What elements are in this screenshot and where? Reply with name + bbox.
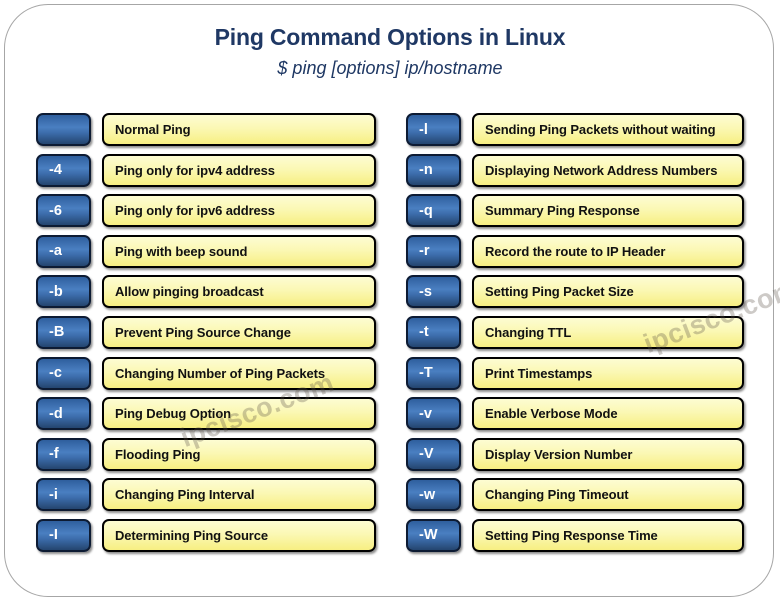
option-row: -sSetting Ping Packet Size [406,275,744,308]
option-row: -nDisplaying Network Address Numbers [406,154,744,187]
option-description-plate: Setting Ping Packet Size [472,275,744,308]
option-flag-badge: -f [36,438,91,471]
option-description-plate: Record the route to IP Header [472,235,744,268]
option-row: -VDisplay Version Number [406,438,744,471]
option-row: Normal Ping [36,113,376,146]
option-flag-badge: -6 [36,194,91,227]
option-flag-badge: -B [36,316,91,349]
option-row: -WSetting Ping Response Time [406,519,744,552]
option-flag-badge: -r [406,235,461,268]
poster-header: Ping Command Options in Linux $ ping [op… [0,22,780,80]
option-row: -fFlooding Ping [36,438,376,471]
options-column-right: -lSending Ping Packets without waiting-n… [406,113,744,560]
option-row: -lSending Ping Packets without waiting [406,113,744,146]
option-flag-badge: -q [406,194,461,227]
option-flag-badge: -I [36,519,91,552]
option-row: -TPrint Timestamps [406,357,744,390]
option-flag-badge: -a [36,235,91,268]
option-description-plate: Ping with beep sound [102,235,376,268]
option-description-plate: Display Version Number [472,438,744,471]
option-flag-badge: -v [406,397,461,430]
option-description-plate: Prevent Ping Source Change [102,316,376,349]
option-description-plate: Determining Ping Source [102,519,376,552]
ping-options-poster: Ping Command Options in Linux $ ping [op… [0,0,780,603]
option-description-plate: Normal Ping [102,113,376,146]
option-row: -IDetermining Ping Source [36,519,376,552]
option-row: -qSummary Ping Response [406,194,744,227]
option-flag-badge: -s [406,275,461,308]
option-flag-badge: -n [406,154,461,187]
option-description-plate: Setting Ping Response Time [472,519,744,552]
option-row: -4Ping only for ipv4 address [36,154,376,187]
option-description-plate: Ping only for ipv6 address [102,194,376,227]
option-row: -BPrevent Ping Source Change [36,316,376,349]
option-description-plate: Displaying Network Address Numbers [472,154,744,187]
option-row: -dPing Debug Option [36,397,376,430]
option-flag-badge: -w [406,478,461,511]
option-row: -vEnable Verbose Mode [406,397,744,430]
option-description-plate: Flooding Ping [102,438,376,471]
option-row: -6Ping only for ipv6 address [36,194,376,227]
option-description-plate: Enable Verbose Mode [472,397,744,430]
option-flag-badge: -c [36,357,91,390]
option-row: -aPing with beep sound [36,235,376,268]
option-description-plate: Changing Ping Timeout [472,478,744,511]
option-flag-badge: -t [406,316,461,349]
option-flag-badge: -W [406,519,461,552]
option-description-plate: Changing Number of Ping Packets [102,357,376,390]
option-flag-badge: -i [36,478,91,511]
option-row: -bAllow pinging broadcast [36,275,376,308]
command-syntax: $ ping [options] ip/hostname [0,56,780,80]
option-description-plate: Ping only for ipv4 address [102,154,376,187]
option-flag-badge: -4 [36,154,91,187]
option-row: -wChanging Ping Timeout [406,478,744,511]
option-row: -tChanging TTL [406,316,744,349]
option-description-plate: Print Timestamps [472,357,744,390]
option-description-plate: Ping Debug Option [102,397,376,430]
page-title: Ping Command Options in Linux [0,22,780,52]
option-flag-badge: -V [406,438,461,471]
option-flag-badge [36,113,91,146]
option-row: -cChanging Number of Ping Packets [36,357,376,390]
option-description-plate: Allow pinging broadcast [102,275,376,308]
option-row: -rRecord the route to IP Header [406,235,744,268]
option-flag-badge: -l [406,113,461,146]
options-column-left: Normal Ping-4Ping only for ipv4 address-… [36,113,376,560]
option-description-plate: Summary Ping Response [472,194,744,227]
option-description-plate: Sending Ping Packets without waiting [472,113,744,146]
option-flag-badge: -d [36,397,91,430]
option-flag-badge: -b [36,275,91,308]
option-row: -iChanging Ping Interval [36,478,376,511]
option-description-plate: Changing Ping Interval [102,478,376,511]
option-description-plate: Changing TTL [472,316,744,349]
option-flag-badge: -T [406,357,461,390]
